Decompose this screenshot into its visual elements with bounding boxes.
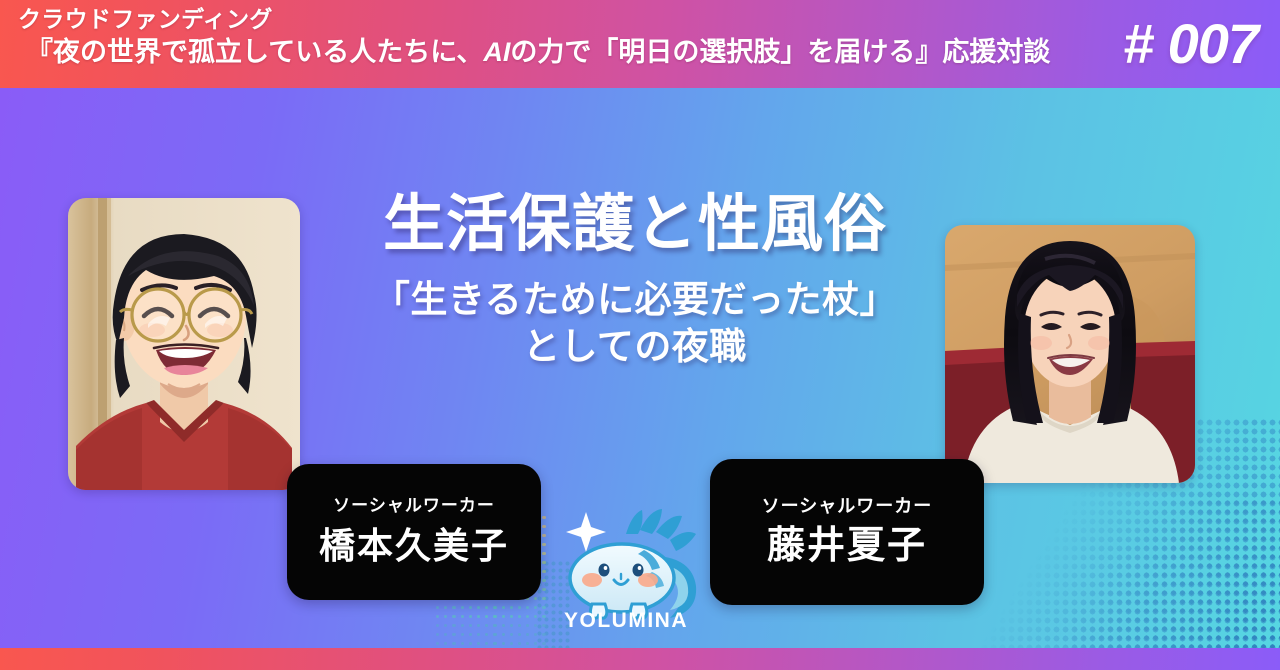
- header-line-2-pre: 『夜の世界で孤立している人たちに、: [26, 37, 483, 67]
- guest-name-badge-left: ソーシャルワーカー 橋本久美子: [287, 464, 541, 600]
- page-title: 生活保護と性風俗: [330, 186, 940, 264]
- header-line-2-ai: AI: [483, 37, 510, 67]
- brand-logo-text: YOLUMINA: [548, 608, 704, 634]
- footer-bar: [0, 648, 1280, 670]
- page-subtitle: 「生きるために必要だった杖」 としての夜職: [330, 276, 940, 370]
- guest-name-right: 藤井夏子: [767, 523, 927, 569]
- guest-name-badge-right: ソーシャルワーカー 藤井夏子: [710, 459, 984, 605]
- header-line-2: 『夜の世界で孤立している人たちに、AIの力で「明日の選択肢」を届ける』応援対談: [18, 34, 1048, 70]
- episode-number: # 007: [1123, 6, 1258, 82]
- title-block: 生活保護と性風俗 「生きるために必要だった杖」 としての夜職: [330, 186, 940, 370]
- guest-portrait-left: [68, 198, 300, 490]
- slide-canvas: クラウドファンディング 『夜の世界で孤立している人たちに、AIの力で「明日の選択…: [0, 0, 1280, 670]
- guest-role-left: ソーシャルワーカー: [333, 495, 495, 517]
- header-line-1: クラウドファンディング: [18, 4, 1048, 34]
- page-subtitle-line-1: 「生きるために必要だった杖」: [330, 276, 940, 323]
- header-text: クラウドファンディング 『夜の世界で孤立している人たちに、AIの力で「明日の選択…: [18, 4, 1048, 70]
- guest-role-right: ソーシャルワーカー: [762, 495, 933, 517]
- header-line-2-post: の力で「明日の選択肢」を届ける』応援対談: [510, 37, 1050, 67]
- page-subtitle-line-2: としての夜職: [330, 323, 940, 370]
- guest-portrait-right: [945, 225, 1195, 483]
- guest-name-left: 橋本久美子: [319, 523, 509, 569]
